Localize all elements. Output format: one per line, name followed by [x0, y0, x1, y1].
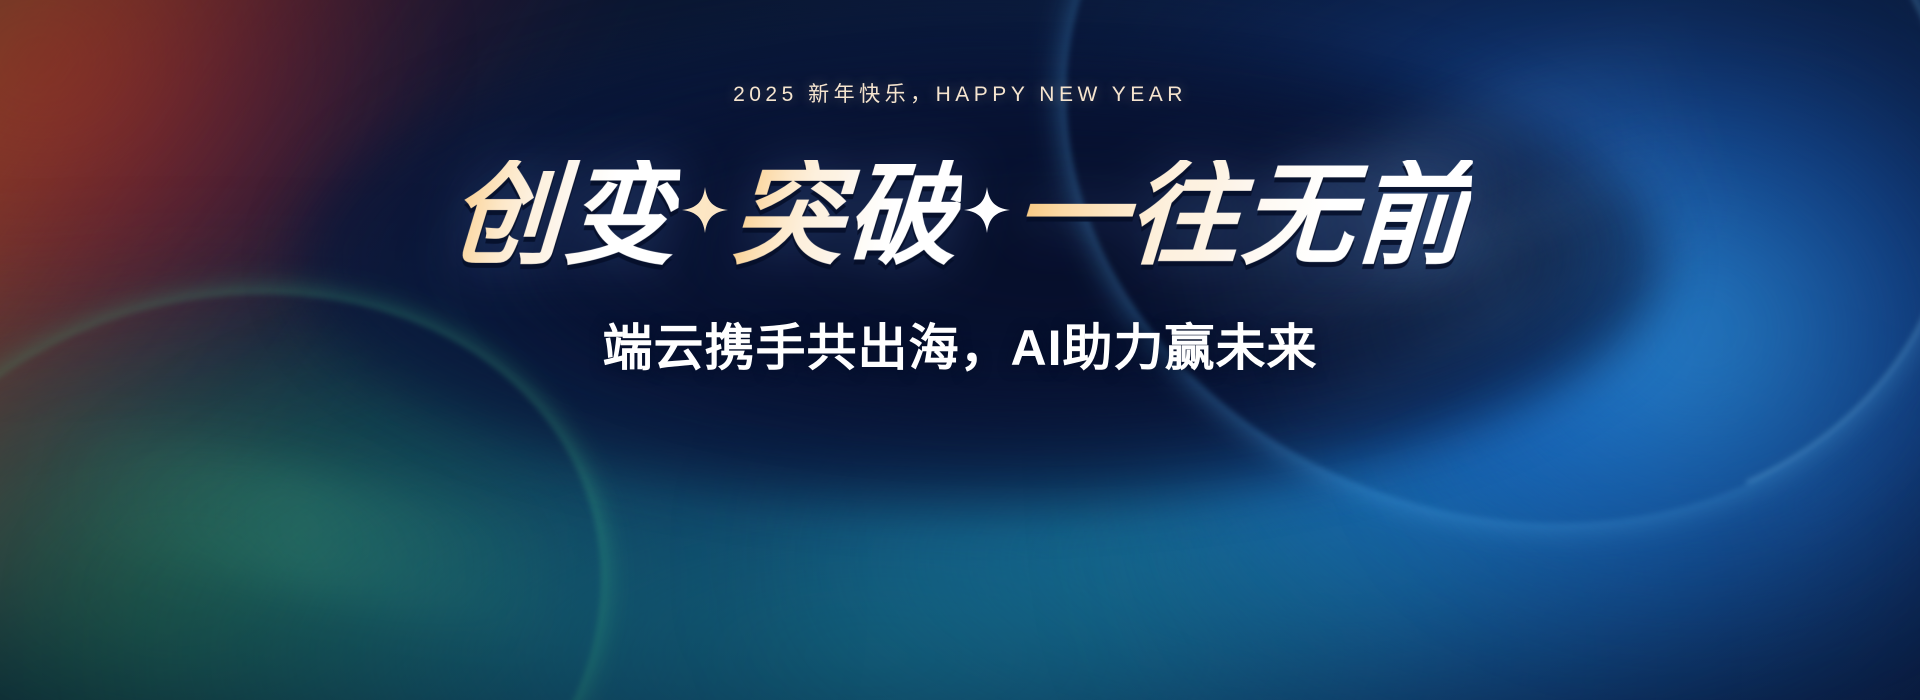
sparkle-icon [682, 187, 728, 233]
headline-segment-yiwangwuqian: 一往无前 [1011, 160, 1473, 272]
banner-content: 2025 新年快乐，HAPPY NEW YEAR 创变 突破 一往无前 端云携手… [0, 0, 1920, 700]
new-year-banner: 2025 新年快乐，HAPPY NEW YEAR 创变 突破 一往无前 端云携手… [0, 0, 1920, 700]
sparkle-icon [964, 187, 1010, 233]
banner-subtitle: 端云携手共出海，AI助力赢未来 [603, 308, 1318, 380]
banner-eyebrow-text: 2025 新年快乐，HAPPY NEW YEAR [733, 78, 1187, 108]
headline-segment-tupo: 突破 [729, 160, 963, 272]
banner-headline: 创变 突破 一往无前 [450, 160, 1470, 272]
headline-segment-chuangbian: 创变 [447, 160, 681, 272]
